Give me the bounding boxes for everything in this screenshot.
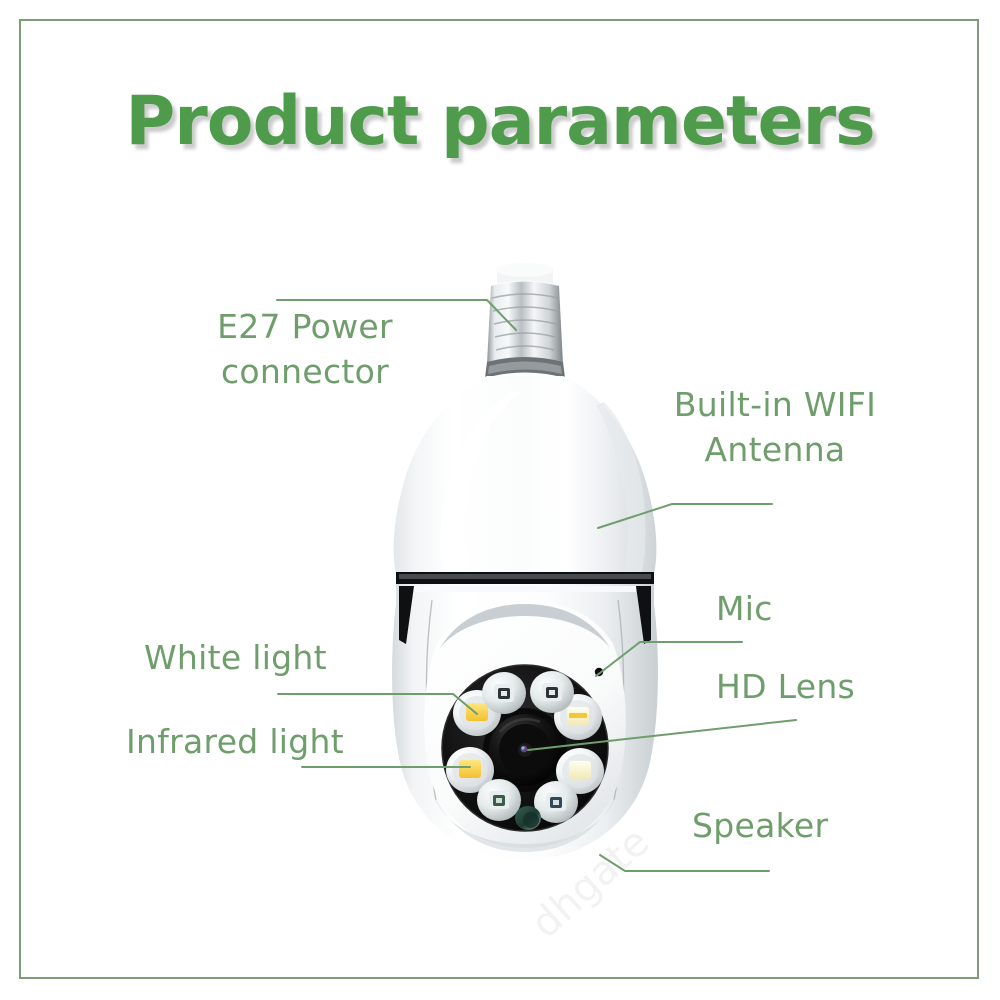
led-infrared-top-left	[482, 672, 526, 714]
led-infrared-top-right	[530, 671, 574, 713]
callout-label-mic: Mic	[716, 588, 773, 629]
callout-label-e27-power-connector: E27 Power connector	[190, 304, 420, 394]
camera-lens-assembly	[442, 665, 608, 831]
product-parameters-diagram: dhgate dhgate dhgate	[0, 0, 1000, 1000]
callout-line-1: Built-in WIFI	[650, 382, 900, 427]
page-title: Product parameters	[125, 82, 874, 161]
callout-line-1: E27 Power	[190, 304, 420, 349]
bulb-body	[394, 376, 657, 574]
callout-line-2: Antenna	[650, 427, 900, 472]
callout-label-infrared-light: Infrared light	[126, 721, 344, 762]
callout-label-white-light: White light	[144, 637, 327, 678]
e27-screw-base	[485, 282, 565, 379]
page-title-container: Product parameters	[0, 82, 1000, 161]
leader-line-speaker	[600, 855, 769, 871]
light-sensor	[515, 806, 541, 830]
callout-label-built-in-wifi-antenna: Built-in WIFI Antenna	[650, 382, 900, 472]
callout-line-2: connector	[190, 349, 420, 394]
callout-label-speaker: Speaker	[692, 805, 828, 846]
housing-top-band	[396, 572, 654, 586]
led-infrared-bottom-left	[477, 779, 521, 821]
callout-label-hd-lens: HD Lens	[716, 666, 855, 707]
bulb-top-contact	[497, 263, 553, 284]
